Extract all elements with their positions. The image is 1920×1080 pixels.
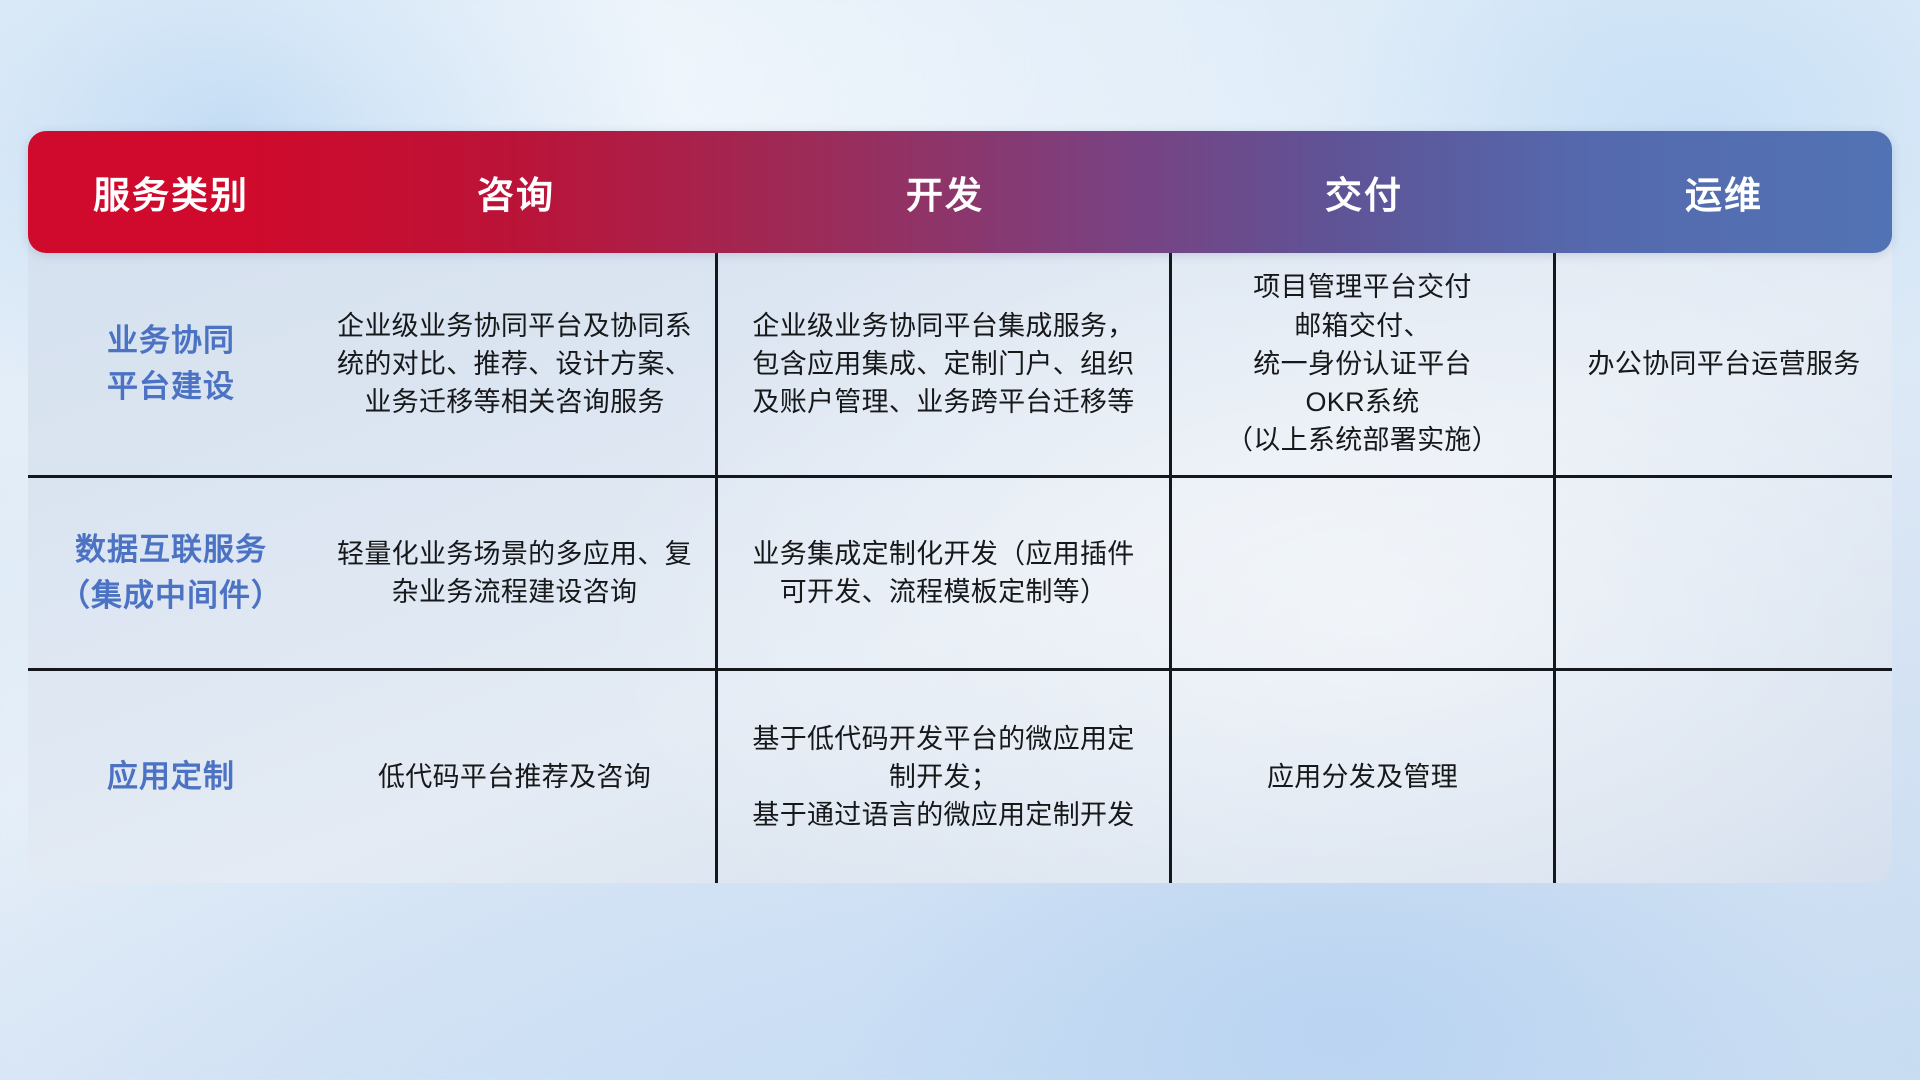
column-header-consult: 咨询 <box>314 165 718 219</box>
category-label: 应用定制 <box>107 754 235 800</box>
cell-develop: 业务集成定制化开发（应用插件 可开发、流程模板定制等） <box>718 478 1172 668</box>
cell-text: 企业级业务协同平台集成服务， 包含应用集成、定制门户、组织 及账户管理、业务跨平… <box>752 307 1134 422</box>
cell-text: 业务集成定制化开发（应用插件 可开发、流程模板定制等） <box>752 535 1134 612</box>
cell-ops <box>1556 671 1892 883</box>
cell-category: 数据互联服务 （集成中间件） <box>28 478 314 668</box>
cell-develop: 基于低代码开发平台的微应用定 制开发； 基于通过语言的微应用定制开发 <box>718 671 1172 883</box>
cell-deliver <box>1172 478 1556 668</box>
cell-text: 轻量化业务场景的多应用、复 杂业务流程建设咨询 <box>337 535 692 612</box>
cell-ops <box>1556 478 1892 668</box>
cell-text: 办公协同平台运营服务 <box>1588 345 1861 383</box>
cell-text: 基于低代码开发平台的微应用定 制开发； 基于通过语言的微应用定制开发 <box>752 720 1134 835</box>
column-header-deliver: 交付 <box>1172 165 1556 219</box>
category-label: 业务协同 平台建设 <box>107 318 235 410</box>
table-row: 数据互联服务 （集成中间件） 轻量化业务场景的多应用、复 杂业务流程建设咨询 业… <box>28 475 1892 668</box>
column-header-develop: 开发 <box>718 165 1172 219</box>
cell-develop: 企业级业务协同平台集成服务， 包含应用集成、定制门户、组织 及账户管理、业务跨平… <box>718 253 1172 475</box>
service-category-table: 服务类别 咨询 开发 交付 运维 业务协同 平台建设 企业级业务协同平台及协同系… <box>28 131 1892 883</box>
cell-text: 低代码平台推荐及咨询 <box>378 758 651 796</box>
cell-deliver: 应用分发及管理 <box>1172 671 1556 883</box>
cell-category: 应用定制 <box>28 671 314 883</box>
cell-consult: 企业级业务协同平台及协同系 统的对比、推荐、设计方案、 业务迁移等相关咨询服务 <box>314 253 718 475</box>
cell-text: 应用分发及管理 <box>1267 758 1458 796</box>
cell-consult: 低代码平台推荐及咨询 <box>314 671 718 883</box>
cell-consult: 轻量化业务场景的多应用、复 杂业务流程建设咨询 <box>314 478 718 668</box>
table-header-row: 服务类别 咨询 开发 交付 运维 <box>28 131 1892 253</box>
category-label: 数据互联服务 （集成中间件） <box>59 527 283 619</box>
cell-category: 业务协同 平台建设 <box>28 253 314 475</box>
cell-text: 企业级业务协同平台及协同系 统的对比、推荐、设计方案、 业务迁移等相关咨询服务 <box>337 307 692 422</box>
cell-text: 项目管理平台交付 邮箱交付、 统一身份认证平台 OKR系统 （以上系统部署实施） <box>1226 268 1499 460</box>
cell-deliver: 项目管理平台交付 邮箱交付、 统一身份认证平台 OKR系统 （以上系统部署实施） <box>1172 253 1556 475</box>
column-header-ops: 运维 <box>1556 165 1892 219</box>
column-header-category: 服务类别 <box>28 165 314 219</box>
table-body: 业务协同 平台建设 企业级业务协同平台及协同系 统的对比、推荐、设计方案、 业务… <box>28 239 1892 883</box>
cell-ops: 办公协同平台运营服务 <box>1556 253 1892 475</box>
table-row: 业务协同 平台建设 企业级业务协同平台及协同系 统的对比、推荐、设计方案、 业务… <box>28 253 1892 475</box>
table-row: 应用定制 低代码平台推荐及咨询 基于低代码开发平台的微应用定 制开发； 基于通过… <box>28 668 1892 883</box>
